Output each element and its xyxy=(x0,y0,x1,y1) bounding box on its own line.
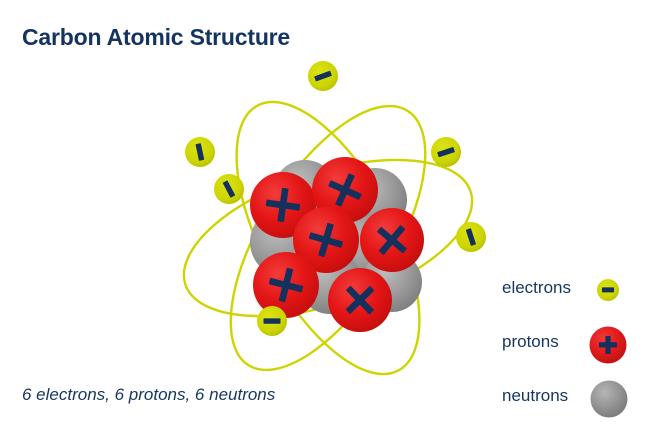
electron-particle xyxy=(185,137,215,167)
nucleus-proton xyxy=(360,208,424,272)
legend-label-electrons: electrons xyxy=(502,278,571,298)
nucleus-proton xyxy=(253,252,319,318)
legend-item-protons: protons xyxy=(502,332,559,352)
legend-swatch-proton xyxy=(586,322,634,370)
electron-particle xyxy=(456,222,486,252)
minus-sign-glyph xyxy=(264,318,281,323)
carbon-atom-diagram xyxy=(0,0,648,432)
electron-particle xyxy=(214,174,244,204)
nucleus-proton xyxy=(328,268,392,332)
legend-item-electrons: electrons xyxy=(502,278,571,298)
legend-swatch-neutron xyxy=(586,377,634,425)
electron-particle xyxy=(431,137,461,167)
electron-particle xyxy=(308,61,338,91)
legend-item-neutrons: neutrons xyxy=(502,386,568,406)
legend-label-protons: protons xyxy=(502,332,559,352)
legend-label-neutrons: neutrons xyxy=(502,386,568,406)
electron-particle xyxy=(257,306,287,336)
nucleus xyxy=(250,157,424,332)
minus-sign-glyph xyxy=(602,287,614,292)
plus-sign-vertical xyxy=(605,336,610,354)
caption-text: 6 electrons, 6 protons, 6 neutrons xyxy=(22,385,275,405)
neutron-sphere-icon xyxy=(591,381,628,418)
legend-swatch-electron xyxy=(588,272,632,316)
slide-canvas: Carbon Atomic Structure xyxy=(0,0,648,432)
